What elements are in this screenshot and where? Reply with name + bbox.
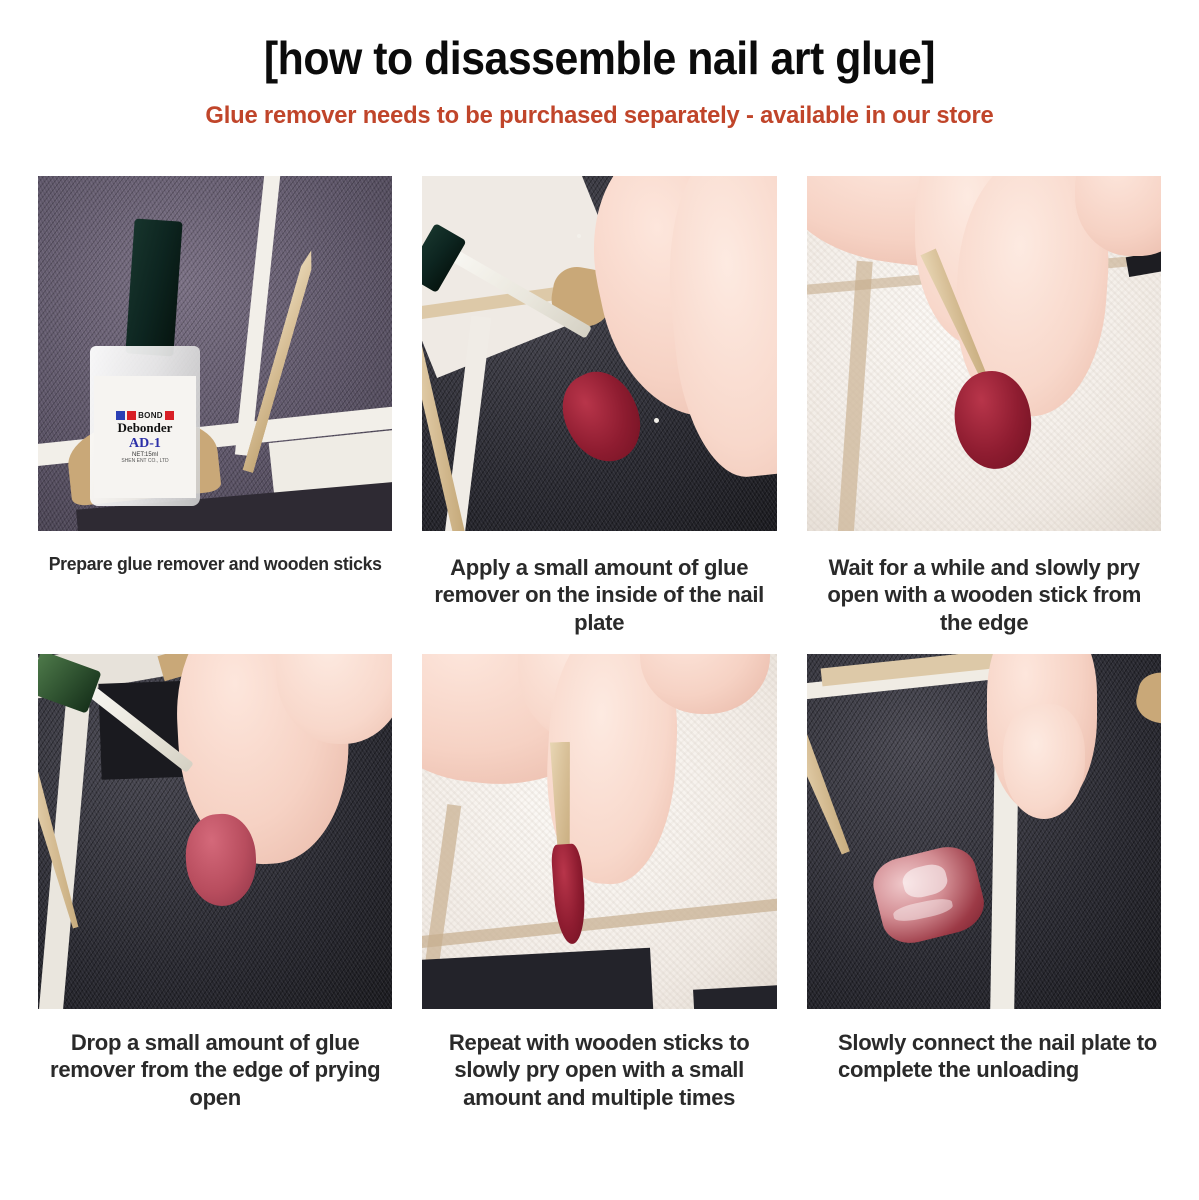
step-caption-1: Prepare glue remover and wooden sticks [42, 554, 389, 576]
step-photo-6 [807, 654, 1161, 1009]
page-subtitle: Glue remover needs to be purchased separ… [18, 102, 1181, 130]
step-caption-2: Apply a small amount of glue remover on … [426, 554, 773, 636]
bottle-product-name: Debonder [118, 420, 173, 436]
step-card-5: Repeat with wooden sticks to slowly pry … [422, 654, 776, 1132]
step-card-3: Wait for a while and slowly pry open wit… [807, 176, 1161, 654]
step-photo-4 [38, 654, 392, 1009]
step-photo-5 [422, 654, 776, 1009]
step-photo-1: BOND Debonder AD-1 NET:15ml SHEN ENT CO.… [38, 176, 392, 531]
photo-background [807, 654, 1161, 1009]
brand-logo-icon: BOND [116, 411, 174, 420]
bottle-label: BOND Debonder AD-1 NET:15ml SHEN ENT CO.… [94, 376, 196, 498]
step-caption-4: Drop a small amount of glue remover from… [42, 1029, 389, 1111]
step-caption-5: Repeat with wooden sticks to slowly pry … [426, 1029, 773, 1111]
step-card-4: Drop a small amount of glue remover from… [38, 654, 392, 1132]
finger [1003, 704, 1085, 819]
step-card-1: BOND Debonder AD-1 NET:15ml SHEN ENT CO.… [38, 176, 392, 654]
header: [how to disassemble nail art glue] Glue … [0, 0, 1199, 130]
step-photo-3 [807, 176, 1161, 531]
step-caption-6: Slowly connect the nail plate to complet… [810, 1029, 1157, 1084]
step-card-2: Apply a small amount of glue remover on … [422, 176, 776, 654]
bottle-cap [125, 218, 182, 356]
decor-patch [422, 948, 654, 1009]
step-caption-3: Wait for a while and slowly pry open wit… [810, 554, 1157, 636]
step-card-6: Slowly connect the nail plate to complet… [807, 654, 1161, 1132]
steps-grid: BOND Debonder AD-1 NET:15ml SHEN ENT CO.… [0, 176, 1199, 1132]
page-title: [how to disassemble nail art glue] [42, 34, 1157, 82]
bottle-product-code: AD-1 [129, 436, 161, 452]
bottle-company: SHEN ENT CO., LTD [121, 458, 168, 464]
step-photo-2 [422, 176, 776, 531]
